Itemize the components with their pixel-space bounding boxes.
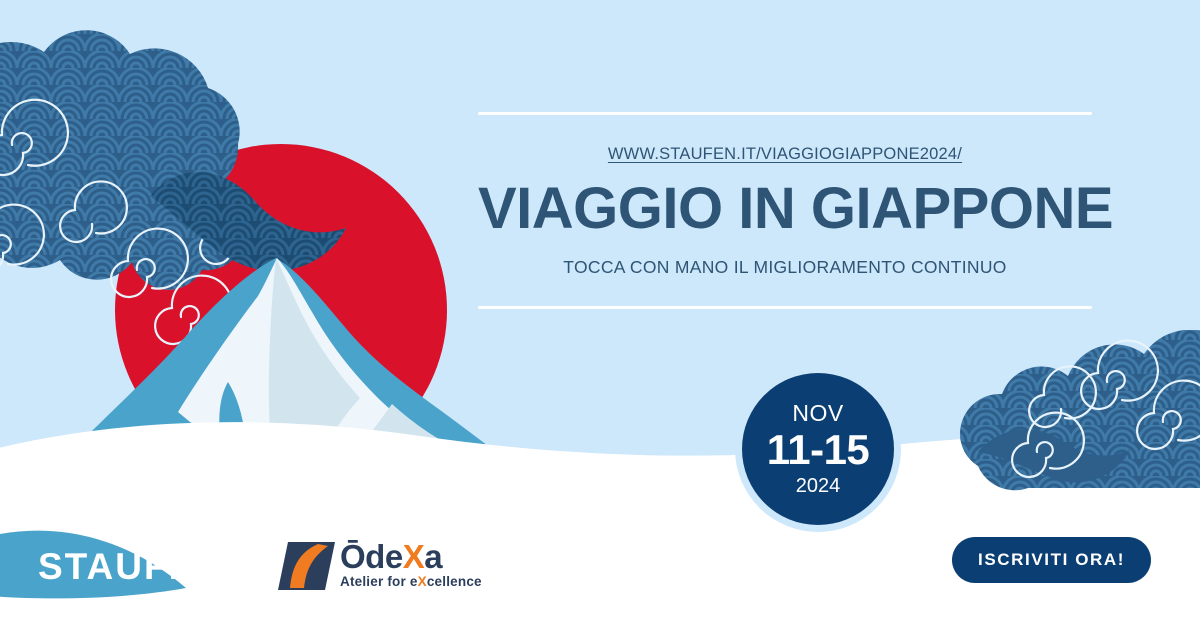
odexa-name-part1: Ōde [340,538,403,575]
odexa-tagline-part2: cellence [427,574,482,589]
register-now-button[interactable]: ISCRIVITI ORA! [952,537,1151,583]
odexa-text: ŌdeXa Atelier for eXcellence [340,540,482,589]
banner-artwork [0,0,1200,627]
date-badge: NOV 11-15 2024 [742,373,894,525]
odexa-name-part2: a [424,538,442,575]
odexa-mark-icon [278,540,336,592]
odexa-tagline-accent: X [418,574,427,589]
date-days: 11-15 [767,427,870,472]
staufen-logo: STAUFEN. [38,548,236,585]
event-banner: WWW.STAUFEN.IT/VIAGGIOGIAPPONE2024/ VIAG… [0,0,1200,627]
page-title: VIAGGIO IN GIAPPONE [478,178,1092,239]
date-month: NOV [792,402,843,425]
odexa-name-accent: X [403,538,425,575]
divider-top [478,112,1092,115]
date-year: 2024 [796,476,841,496]
odexa-name: ŌdeXa [340,540,482,573]
odexa-tagline: Atelier for eXcellence [340,575,482,589]
odexa-logo: ŌdeXa Atelier for eXcellence [278,540,482,592]
odexa-tagline-part1: Atelier for e [340,574,418,589]
event-url-link[interactable]: WWW.STAUFEN.IT/VIAGGIOGIAPPONE2024/ [478,145,1092,164]
page-subtitle: TOCCA CON MANO IL MIGLIORAMENTO CONTINUO [478,257,1092,278]
headline-block: WWW.STAUFEN.IT/VIAGGIOGIAPPONE2024/ VIAG… [478,112,1092,309]
divider-bottom [478,306,1092,309]
